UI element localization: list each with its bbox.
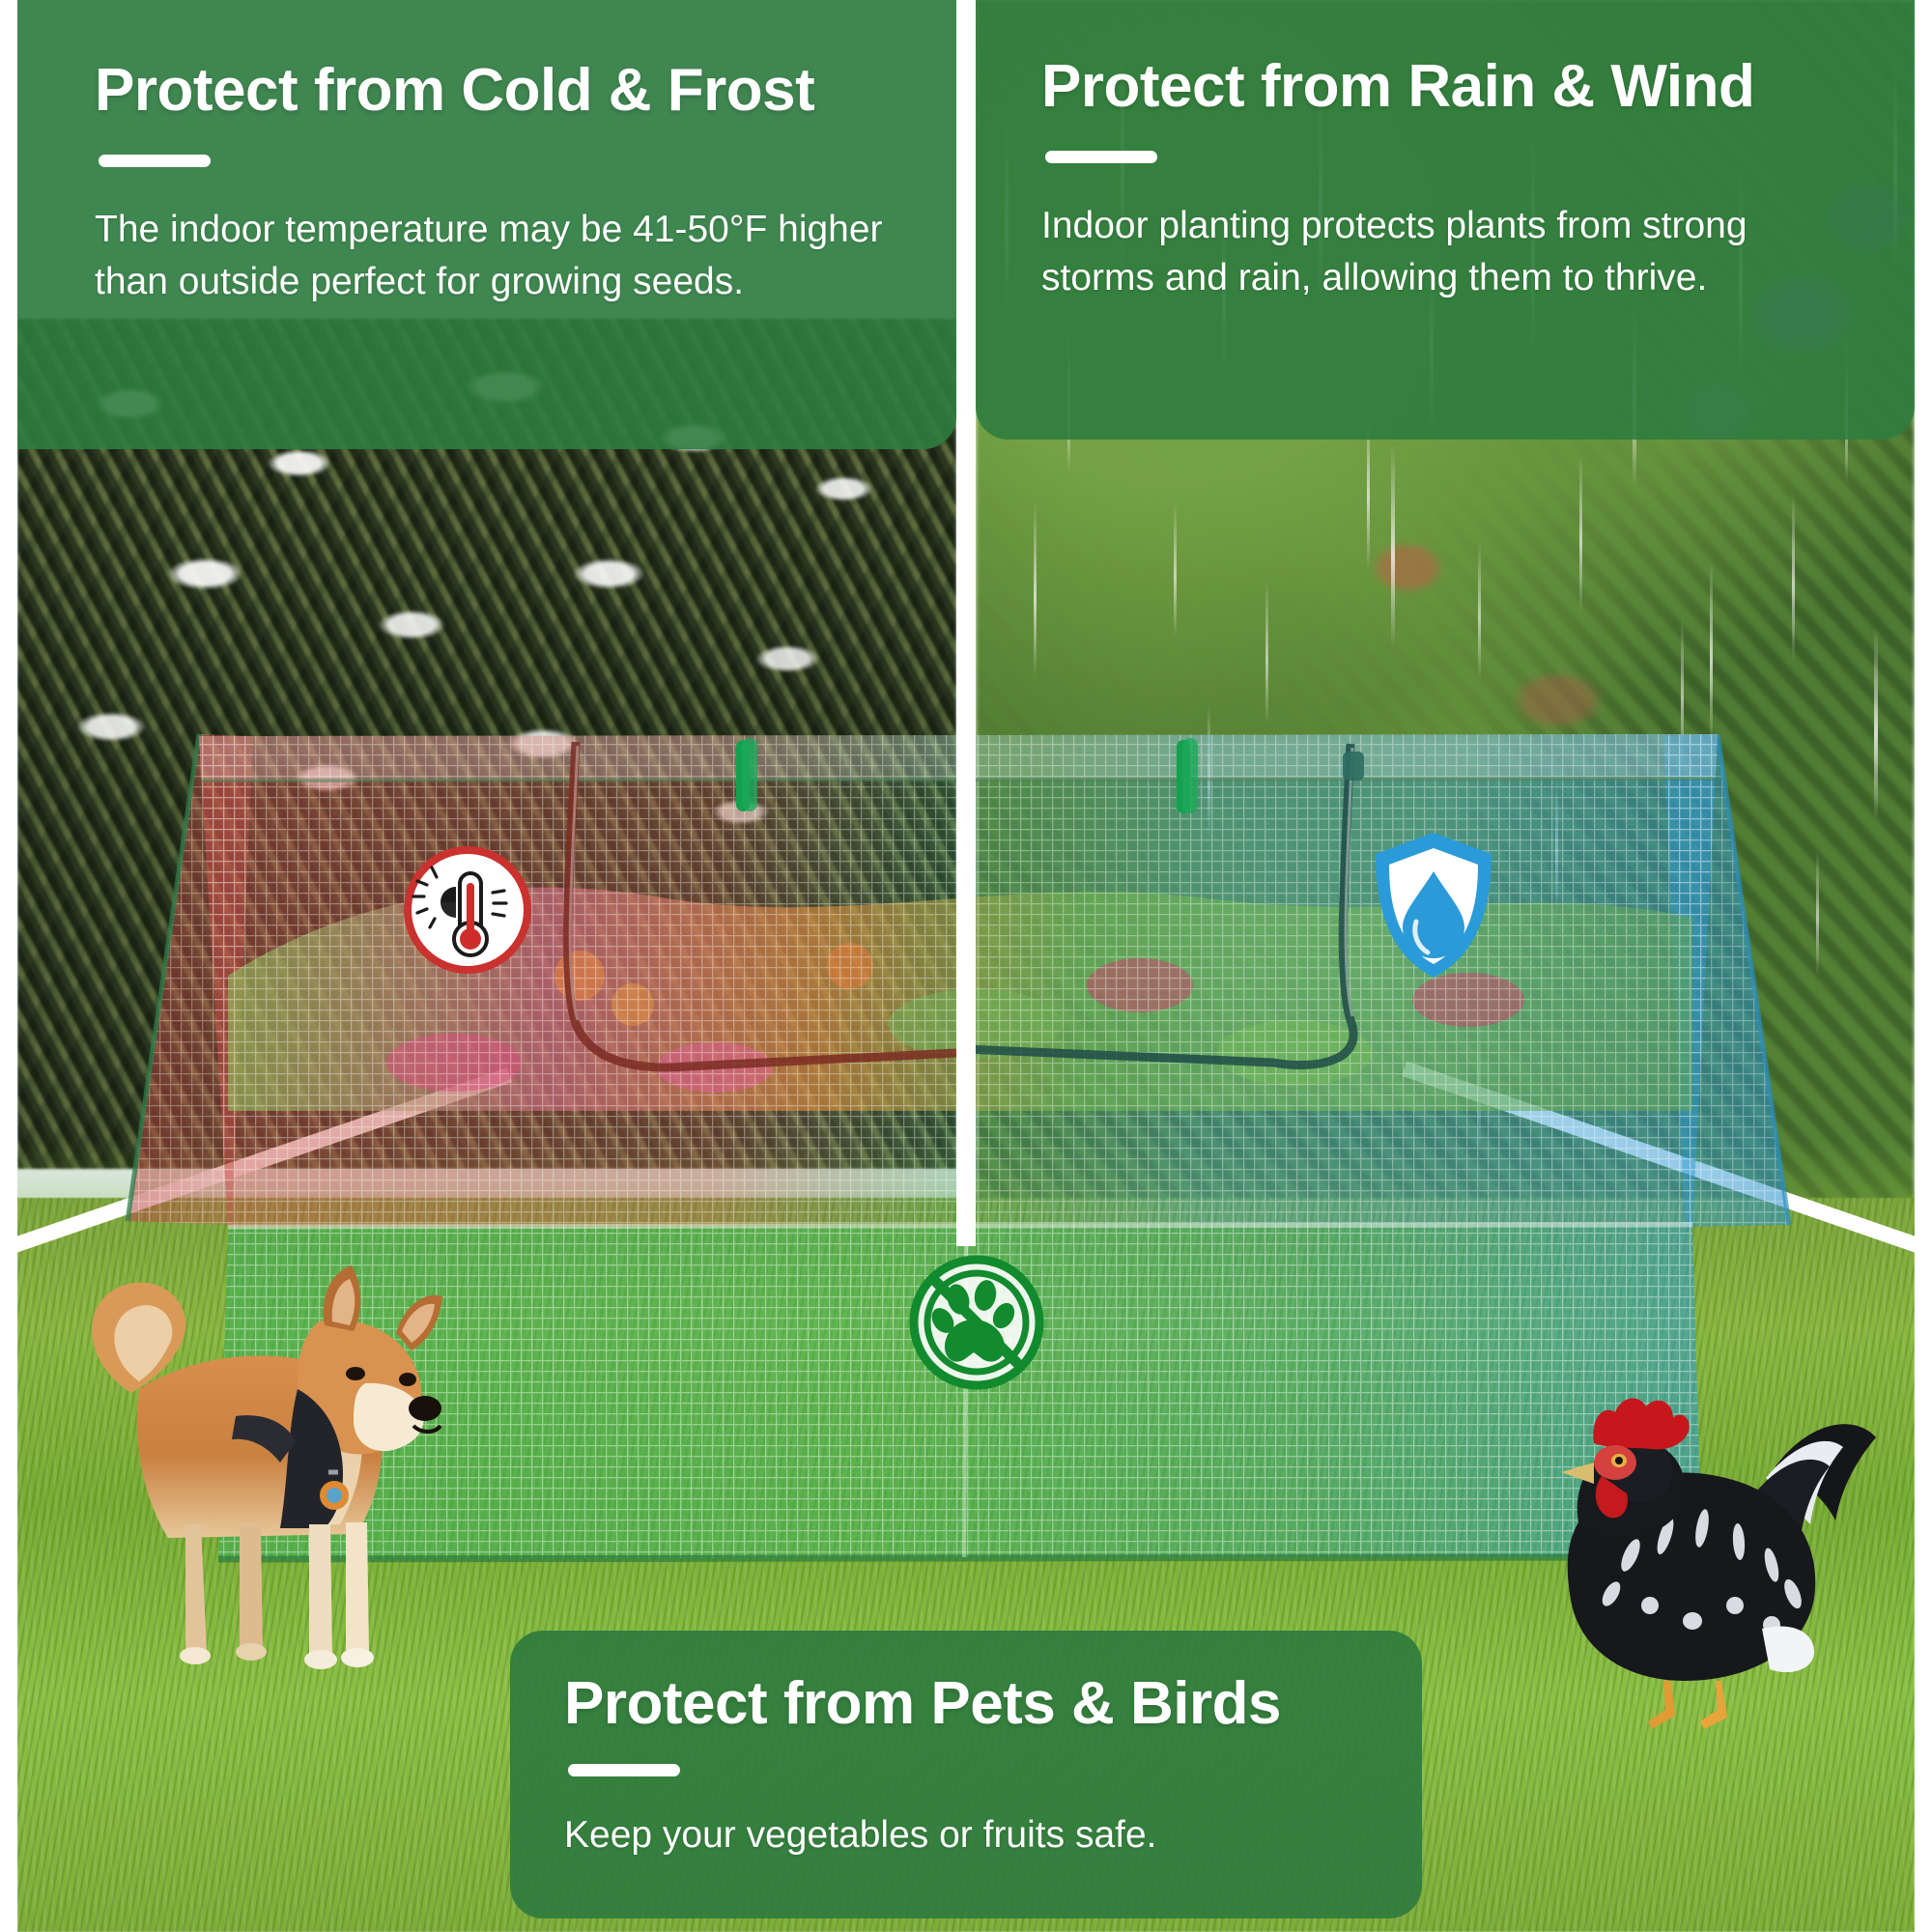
sun-thermometer-icon [400,842,535,978]
black-and-white-rooster [1486,1362,1891,1729]
left-margin [0,0,17,1932]
panel-rain-rule [1045,151,1157,163]
water-drop-shield-icon [1370,829,1497,981]
panel-seam-divider [956,0,976,1246]
panel-pets-heading: Protect from Pets & Birds [564,1673,1368,1735]
shiba-inu-dog [56,1219,462,1673]
panel-cold-rule [99,155,211,167]
panel-cold-body: The indoor temperature may be 41-50°F hi… [95,204,887,308]
panel-cold-heading: Protect from Cold & Frost [95,60,902,122]
panel-pets-rule [568,1764,680,1776]
panel-rain-heading: Protect from Rain & Wind [1041,56,1861,118]
right-margin [1915,0,1932,1932]
no-pets-paw-icon [906,1252,1047,1393]
panel-cold-frost: Protect from Cold & Frost The indoor tem… [17,0,956,449]
panel-pets-birds: Protect from Pets & Birds Keep your vege… [510,1631,1422,1918]
product-feature-graphic: Protect from Cold & Frost The indoor tem… [0,0,1932,1932]
panel-rain-body: Indoor planting protects plants from str… [1041,200,1833,304]
panel-pets-body: Keep your vegetables or fruits safe. [564,1809,1356,1861]
panel-rain-wind: Protect from Rain & Wind Indoor planting… [976,0,1915,440]
